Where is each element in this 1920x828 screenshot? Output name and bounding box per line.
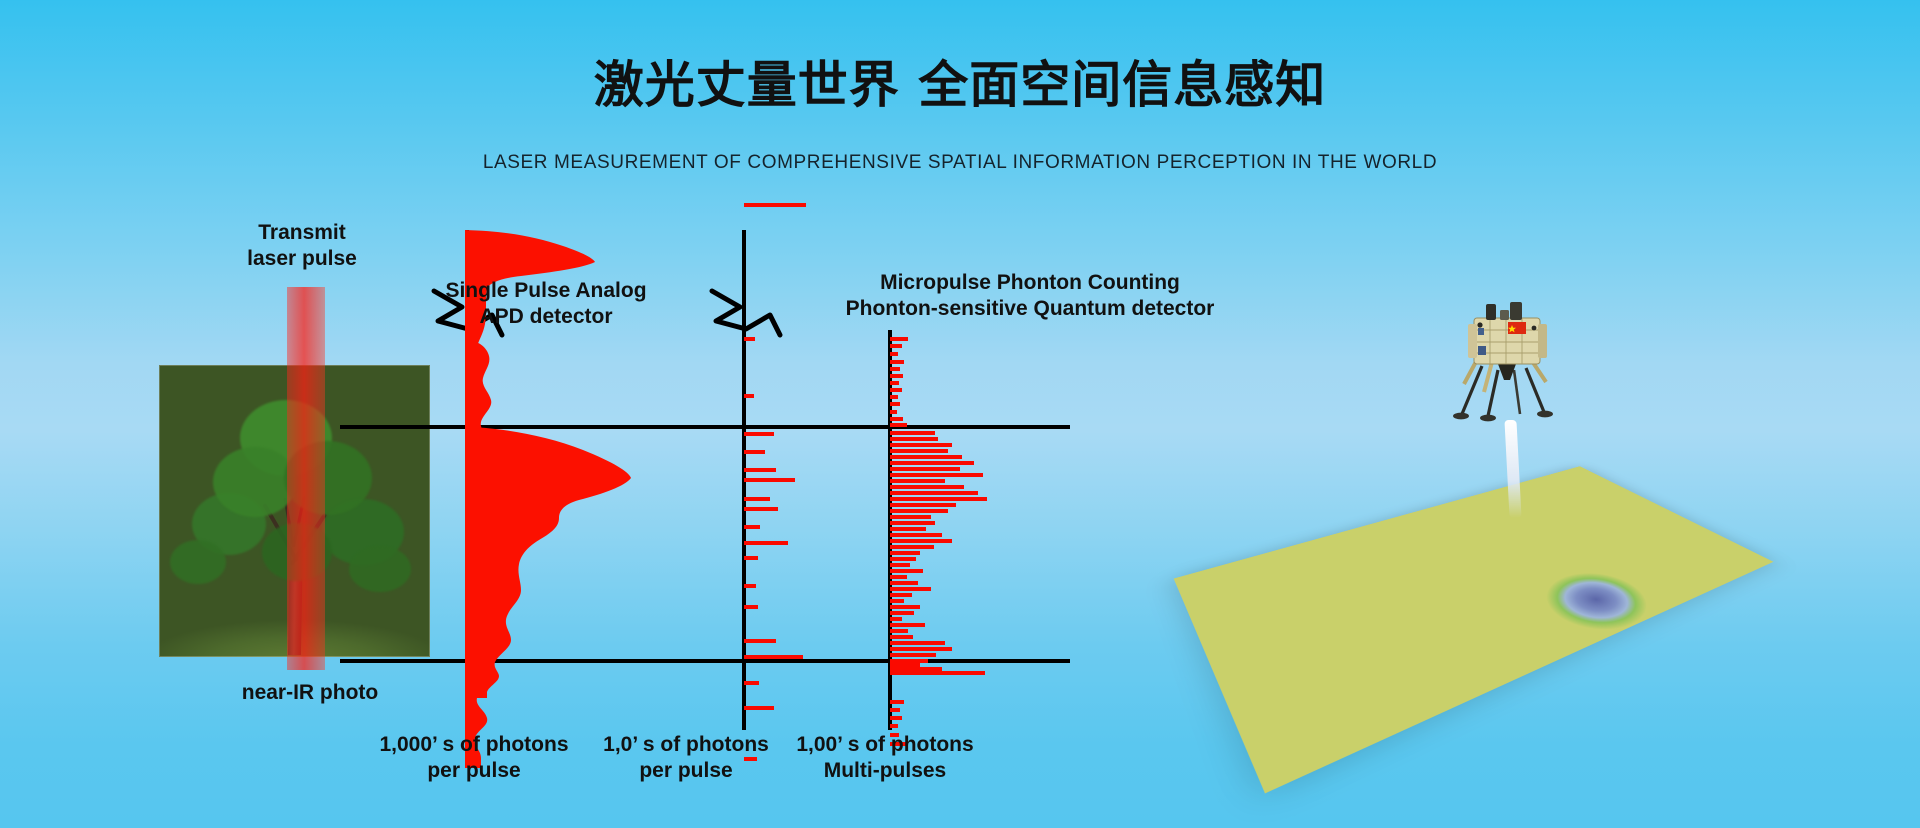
- colorized-lidar-dem-terrain: [1174, 466, 1774, 793]
- photon-spike: [890, 443, 952, 447]
- photon-spike: [890, 360, 904, 364]
- photon-spike: [890, 539, 952, 543]
- photon-spike: [744, 706, 774, 710]
- photon-spike: [744, 655, 803, 659]
- page-subtitle: LASER MEASUREMENT OF COMPREHENSIVE SPATI…: [0, 152, 1920, 174]
- photon-spike: [890, 641, 945, 645]
- chart3-detector-label: Micropulse Phonton Counting Phonton-sens…: [820, 270, 1240, 322]
- photon-spike: [890, 724, 898, 728]
- page-title: 激光丈量世界 全面空间信息感知: [0, 55, 1920, 115]
- photon-spike: [890, 611, 914, 615]
- lidar-mapping-illustration: [1180, 270, 1820, 750]
- photon-spike: [744, 507, 778, 511]
- photon-spike: [890, 402, 900, 406]
- photon-spike: [890, 485, 964, 489]
- photon-spike: [744, 556, 758, 560]
- photon-spike: [890, 437, 938, 441]
- photon-spike: [890, 617, 902, 621]
- photon-spike: [890, 455, 962, 459]
- photon-spike: [744, 432, 774, 436]
- photon-spike: [890, 337, 908, 341]
- photon-spike: [890, 473, 983, 477]
- photon-spike: [890, 417, 903, 421]
- lower-reference-line: [340, 659, 1070, 663]
- photon-spike: [890, 479, 945, 483]
- photon-spike: [744, 450, 765, 454]
- photon-spike: [890, 509, 948, 513]
- photon-spike: [890, 367, 900, 371]
- photon-spike: [890, 647, 952, 651]
- poster-canvas: 激光丈量世界 全面空间信息感知 LASER MEASUREMENT OF COM…: [0, 0, 1920, 828]
- photon-spike: [890, 449, 948, 453]
- photon-spike: [744, 478, 795, 482]
- photon-spike: [744, 584, 756, 588]
- ground-reference-line: [340, 425, 1070, 429]
- chart2-axis-break-symbol: [710, 285, 784, 341]
- photon-spike: [890, 593, 912, 597]
- photon-spike: [890, 563, 910, 567]
- photon-spike: [890, 374, 903, 378]
- photon-spike: [744, 525, 760, 529]
- photon-spike: [890, 344, 902, 348]
- photon-spike: [890, 653, 936, 657]
- transmit-laser-pulse-label: Transmit laser pulse: [212, 220, 392, 272]
- transmit-laser-beam: [287, 287, 325, 670]
- photon-spike: [890, 533, 942, 537]
- photon-spike: [890, 352, 898, 356]
- photon-spike: [890, 551, 920, 555]
- photon-spike: [890, 395, 898, 399]
- photon-spike: [890, 461, 974, 465]
- photon-spike: [744, 337, 755, 341]
- photon-spike: [890, 623, 925, 627]
- photon-spike: [890, 491, 978, 495]
- photon-spike: [744, 497, 770, 501]
- photon-spike: [890, 575, 907, 579]
- photon-spike: [890, 569, 923, 573]
- photon-spike: [890, 381, 899, 385]
- photon-spike: [890, 515, 931, 519]
- photon-spike: [744, 468, 776, 472]
- tree-foliage: [170, 540, 226, 584]
- chart1-detector-label: Single Pulse Analog APD detector: [406, 278, 686, 330]
- lunar-lander: [1448, 292, 1568, 442]
- photon-spike: [890, 410, 897, 414]
- photon-spike: [890, 671, 985, 675]
- photon-spike: [744, 639, 776, 643]
- photon-spike: [744, 203, 806, 207]
- chart3-caption: 1,00’ s of photons Multi-pulses: [750, 732, 1020, 784]
- photon-spike: [890, 629, 908, 633]
- photon-spike: [890, 587, 931, 591]
- photon-spike: [890, 521, 935, 525]
- photon-spike: [890, 708, 900, 712]
- photon-spike: [890, 431, 935, 435]
- photon-spike: [890, 700, 904, 704]
- photon-spike: [890, 545, 934, 549]
- near-ir-photo-label: near-IR photo: [190, 680, 430, 706]
- photon-spike: [890, 599, 904, 603]
- photon-spike: [744, 605, 758, 609]
- photon-spike: [744, 681, 759, 685]
- photon-spike: [890, 605, 920, 609]
- photon-spike: [744, 394, 754, 398]
- photon-spike: [890, 635, 913, 639]
- photon-spike: [890, 423, 907, 427]
- photon-spike: [890, 716, 902, 720]
- photon-spike: [890, 581, 918, 585]
- photon-spike: [890, 527, 926, 531]
- photon-spike: [890, 503, 956, 507]
- photon-spike: [890, 467, 960, 471]
- photon-spike: [744, 541, 788, 545]
- photon-spike: [890, 388, 902, 392]
- tree-foliage: [349, 546, 411, 592]
- chart2-vertical-axis-lower: [742, 330, 746, 730]
- photon-spike: [890, 497, 987, 501]
- photon-spike: [890, 557, 916, 561]
